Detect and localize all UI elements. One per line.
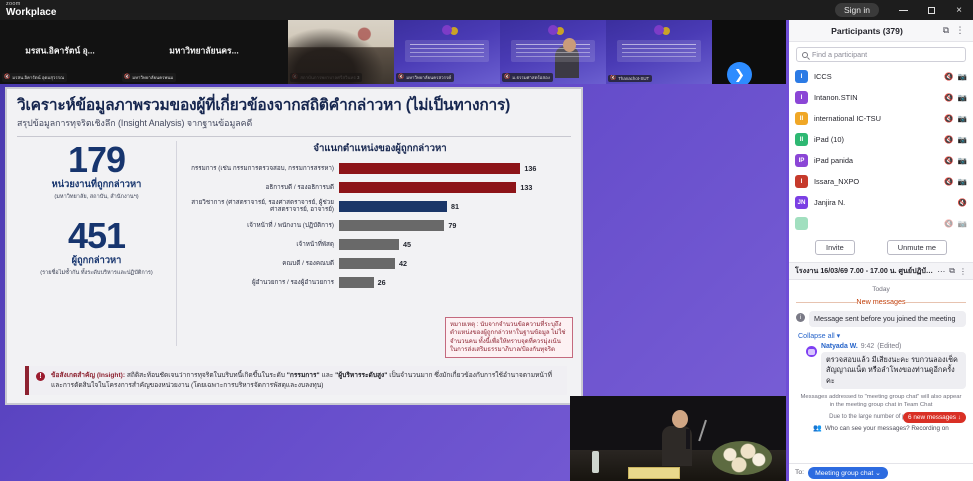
chart-bar-label: ผู้อำนวยการ / รองผู้อำนวยการ [189, 279, 339, 286]
mic-off-icon[interactable]: 🔇 [944, 115, 953, 123]
alert-icon: ! [36, 372, 45, 381]
mic-off-icon[interactable]: 🔇 [944, 157, 953, 165]
chevron-down-icon: ⌄ [875, 470, 881, 477]
shared-slide: วิเคราะห์ข้อมูลภาพรวมของผู้ที่เกี่ยวข้อง… [5, 87, 583, 405]
new-messages-pill[interactable]: 6 new messages ↓ [903, 412, 966, 423]
slide-text-block [617, 40, 702, 62]
insight-text-a: สถิติสะท้อนชัดเจนว่าการทุจริตในบริบทนี้เ… [125, 372, 287, 379]
chart-bar-track: 26 [339, 277, 571, 288]
chart-bar-label: กรรมการ (เช่น กรรมการตรวจสอบ, กรรมการสรร… [189, 165, 339, 172]
new-messages-pill-label: 6 new messages [908, 414, 956, 421]
participant-row[interactable]: IIiPad (10)🔇📷 [789, 129, 973, 150]
system-message-text: Message sent before you joined the meeti… [809, 311, 966, 327]
chart-bar [339, 220, 444, 231]
avatar: II [795, 112, 808, 125]
app-brand: zoom Workplace [0, 2, 56, 18]
chart-bar-value: 81 [451, 202, 459, 211]
search-input[interactable]: Find a participant [796, 47, 966, 62]
chart-bar-row: สายวิชาการ (ศาสตราจารย์, รองศาสตราจารย์,… [189, 198, 571, 214]
participant-name: international IC-TSU [814, 114, 938, 123]
participant-actions: Invite Unmute me [789, 234, 973, 263]
chat-message-body: ตรวจสอบแล้ว มีเสียงนะคะ รบกวนลองเช็คสัญญ… [821, 352, 966, 390]
participant-row[interactable]: IPiPad panida🔇📷 [789, 150, 973, 171]
avatar: II [795, 133, 808, 146]
chart-bar-value: 133 [520, 183, 532, 192]
mic-off-icon: 🔇 [4, 75, 10, 80]
participant-status-icons: 🔇📷 [944, 136, 967, 144]
emblem-icon [442, 25, 452, 35]
insight-highlight-2: "ผู้บริหารระดับสูง" [335, 372, 387, 379]
participant-name: ICCS [814, 72, 938, 81]
camera-off-icon[interactable]: 📷 [958, 115, 967, 123]
mic-off-icon[interactable]: 🔇 [944, 136, 953, 144]
more-horizontal-icon[interactable]: ⋯ [937, 267, 945, 276]
participant-name: iPad panida [814, 156, 938, 165]
bar-chart: จำแนกตำแหน่งของผู้ถูกกล่าวหา กรรมการ (เช… [185, 141, 571, 346]
participant-status-icons: 🔇📷 [944, 115, 967, 123]
collapse-all-label: Collapse all [798, 332, 835, 340]
participant-list[interactable]: IICCS🔇📷IIntanon.STIN🔇📷IIinternational IC… [789, 66, 973, 234]
right-side-panel: Participants (379) ⧉ ⋮ Find a participan… [788, 20, 973, 481]
thumbnail-badge-label: มรสน.อิคารัตน์ อุดมสุวรรณ [12, 74, 64, 81]
thumbnail-badge-label: สถาบันการพยาบาลศรีสวินทร 3 [300, 74, 359, 81]
chart-bar-label: คณบดี / รองคณบดี [189, 260, 339, 267]
participant-row[interactable]: JNJanjira N.🔇 [789, 192, 973, 213]
participant-search-wrap: Find a participant [789, 42, 973, 66]
minimize-icon[interactable] [889, 0, 917, 20]
thumbnail-tile[interactable]: มหาวิทยาลัยนคร... 🔇 มหาวิทยาลัยนครพนม [120, 20, 288, 84]
camera-icon[interactable]: 📷 [958, 94, 967, 102]
chevron-up-icon: ▾ [837, 332, 841, 340]
collapse-all-button[interactable]: Collapse all ▾ [798, 331, 966, 340]
thumbnail-tile[interactable]: มรสน.อิคารัตน์ อุ... 🔇 มรสน.อิคารัตน์ อุ… [0, 20, 120, 84]
brand-workplace-label: Workplace [6, 8, 56, 18]
participant-status-icons: 🔇📷 [944, 157, 967, 165]
participant-name: iPad (10) [814, 135, 938, 144]
insight-highlight-1: "กรรมการ" [287, 372, 320, 379]
chat-due-notice: Due to the large number of participants … [796, 414, 966, 420]
mic-off-icon: 🔇 [610, 76, 616, 81]
search-icon [802, 52, 808, 58]
flower-arrangement [712, 441, 772, 475]
kpi-value: 451 [68, 219, 125, 252]
participant-status-icons: 🔇 [958, 199, 967, 207]
chart-bar-row: ผู้อำนวยการ / รองผู้อำนวยการ26 [189, 274, 571, 290]
title-bar: zoom Workplace Sign in × [0, 0, 973, 20]
mic-off-icon: 🔇 [398, 75, 404, 80]
thumbnail-badge-label: Thanachot-SUT [618, 76, 649, 81]
mic-off-icon[interactable]: 🔇 [944, 94, 953, 102]
thumbnail-tile[interactable]: 🔇 สถาบันการพยาบาลศรีสวินทร 3 [288, 20, 394, 84]
slide-heading: วิเคราะห์ข้อมูลภาพรวมของผู้ที่เกี่ยวข้อง… [17, 97, 571, 114]
insight-lead: ข้อสังเกตสำคัญ (Insight): [51, 372, 125, 379]
chat-footnote: Messages addressed to "meeting group cha… [796, 394, 966, 410]
active-speaker-video[interactable] [570, 396, 788, 481]
system-message: i Message sent before you joined the mee… [796, 311, 966, 327]
chart-bar-label: อธิการบดี / รองอธิการบดี [189, 184, 339, 191]
slide-text-block [511, 40, 596, 62]
kpi-sublabel: (รายชื่อไม่ซ้ำกัน ทั้งระดับบริหารและปฏิบ… [40, 269, 153, 277]
chart-bar [339, 239, 399, 250]
thumbnail-display-name: มหาวิทยาลัยนคร... [120, 44, 288, 58]
who-can-see-row[interactable]: 👥 Who can see your messages? Recording o… [796, 424, 966, 432]
popout-icon[interactable]: ⧉ [949, 266, 955, 276]
chat-compose-footer: To: Meeting group chat ⌄ [789, 463, 973, 481]
avatar: I [795, 175, 808, 188]
thumbnail-name-badge: 🔇 ม.ธรรมศาสตร์อสอง [502, 73, 553, 82]
mic-off-icon: 🔇 [124, 75, 130, 80]
chart-bar-row: เจ้าหน้าที่ / พนักงาน (ปฏิบัติการ)79 [189, 217, 571, 233]
thumbnail-name-badge: 🔇 สถาบันการพยาบาลศรีสวินทร 3 [290, 73, 362, 82]
more-vertical-icon[interactable]: ⋮ [953, 24, 967, 38]
thumbnail-name-badge: 🔇 มรสน.อิคารัตน์ อุดมสุวรรณ [2, 73, 67, 82]
chart-bar-value: 42 [399, 259, 407, 268]
chart-bar-track: 136 [339, 163, 571, 174]
mic-off-icon: 🔇 [504, 75, 510, 80]
invite-button[interactable]: Invite [815, 240, 855, 255]
avatar: JN [795, 196, 808, 209]
chat-edited-flag: (Edited) [877, 343, 901, 350]
chat-day-separator: Today [796, 286, 966, 293]
info-icon: i [796, 313, 805, 322]
participant-status-icons: 🔇📷 [944, 220, 967, 228]
camera-off-icon[interactable]: 📷 [958, 220, 967, 228]
chart-bar-row: อธิการบดี / รองอธิการบดี133 [189, 179, 571, 195]
thumbnail-tile[interactable]: 🔇 ม.ธรรมศาสตร์อสอง [500, 20, 606, 84]
chart-bar [339, 277, 374, 288]
thumbnail-tile[interactable]: 🔇 มหาวิทยาลัยนครสวรรค์ [394, 20, 500, 84]
thumbnail-badge-label: มหาวิทยาลัยนครสวรรค์ [406, 74, 451, 81]
camera-off-icon[interactable]: 📷 [958, 157, 967, 165]
chart-bar-track: 45 [339, 239, 571, 250]
chat-time: 9:42 [861, 343, 874, 350]
camera-off-icon[interactable]: 📷 [958, 178, 967, 186]
mic-off-icon[interactable]: 🔇 [958, 199, 967, 207]
participants-title: Participants (379) [795, 26, 939, 36]
chart-bar-track: 81 [339, 201, 571, 212]
thumbnail-tile[interactable]: 🔇 Thanachot-SUT [606, 20, 712, 84]
chart-bar-label: เจ้าหน้าที่ / พนักงาน (ปฏิบัติการ) [189, 222, 339, 229]
slide-body: 179 หน่วยงานที่ถูกกล่าวหา (มหาวิทยาลัย, … [17, 141, 571, 346]
divider [17, 136, 571, 137]
participants-header: Participants (379) ⧉ ⋮ [789, 20, 973, 42]
new-messages-separator: New messages [796, 297, 966, 306]
popout-icon[interactable]: ⧉ [939, 24, 953, 38]
chart-bar-track: 79 [339, 220, 571, 231]
chart-bar-value: 45 [403, 240, 411, 249]
avatar [806, 346, 817, 357]
thumbnail-badge-label: ม.ธรรมศาสตร์อสอง [512, 74, 550, 81]
chart-bar-value: 136 [524, 164, 536, 173]
participant-thumbnail-strip[interactable]: มรสน.อิคารัตน์ อุ... 🔇 มรสน.อิคารัตน์ อุ… [0, 20, 788, 84]
thumbnail-name-badge: 🔇 มหาวิทยาลัยนครสวรรค์ [396, 73, 454, 82]
kpi-label: หน่วยงานที่ถูกกล่าวหา [52, 177, 142, 192]
participant-row[interactable]: IIntanon.STIN🔇📷 [789, 87, 973, 108]
participant-row[interactable]: 🔇📷 [789, 213, 973, 234]
speaker-tie [686, 429, 690, 449]
emblem-icon [548, 25, 558, 35]
participant-row[interactable]: IIinternational IC-TSU🔇📷 [789, 108, 973, 129]
name-plate [628, 467, 680, 479]
thumbnail-name-badge: 🔇 Thanachot-SUT [608, 75, 652, 82]
chart-bar-row: เจ้าหน้าที่พัสดุ45 [189, 236, 571, 252]
avatar: IP [795, 154, 808, 167]
chart-note: หมายเหตุ : นับจากจำนวนข้อความที่ระบุถึงต… [445, 317, 573, 358]
chart-bar-value: 26 [378, 278, 386, 287]
camera-off-icon[interactable]: 📷 [958, 136, 967, 144]
avatar [795, 217, 808, 230]
kpi-value: 179 [68, 143, 125, 176]
chart-bar-row: คณบดี / รองคณบดี42 [189, 255, 571, 271]
search-placeholder: Find a participant [812, 50, 867, 59]
participant-name: Janjira N. [814, 198, 952, 207]
participant-status-icons: 🔇📷 [944, 178, 967, 186]
mic-off-icon[interactable]: 🔇 [944, 73, 953, 81]
chat-message: Natyada W.9:42(Edited) ตรวจสอบแล้ว มีเสี… [806, 343, 966, 390]
unmute-me-button[interactable]: Unmute me [887, 240, 947, 255]
chart-bar-label: สายวิชาการ (ศาสตราจารย์, รองศาสตราจารย์,… [189, 199, 339, 213]
slide-text-block [405, 40, 490, 62]
participant-name: Issara_NXPO [814, 177, 938, 186]
who-can-see-label: Who can see your messages? Recording on [825, 425, 949, 432]
chat-recipient-selector[interactable]: Meeting group chat ⌄ [808, 467, 888, 479]
chart-bars: กรรมการ (เช่น กรรมการตรวจสอบ, กรรมการสรร… [189, 160, 571, 290]
insight-callout: ! ข้อสังเกตสำคัญ (Insight): สถิติสะท้อนช… [25, 366, 567, 395]
chat-header: โรงงาน 16/03/69 7.00 - 17.00 น. ศูนย์ปฏิ… [789, 263, 973, 280]
chart-bar [339, 163, 520, 174]
people-icon: 👥 [813, 424, 822, 432]
shared-screen-stage: วิเคราะห์ข้อมูลภาพรวมของผู้ที่เกี่ยวข้อง… [0, 84, 788, 481]
water-bottle [592, 451, 599, 473]
thumbnail-badge-label: มหาวิทยาลัยนครพนม [132, 74, 173, 81]
mic-off-icon[interactable]: 🔇 [944, 220, 953, 228]
chat-message-list[interactable]: Today New messages i Message sent before… [789, 280, 973, 456]
chart-bar-value: 79 [448, 221, 456, 230]
thumbnail-name-badge: 🔇 มหาวิทยาลัยนครพนม [122, 73, 176, 82]
chart-bar [339, 182, 516, 193]
emblem-icon [654, 25, 664, 35]
participant-row[interactable]: IICCS🔇📷 [789, 66, 973, 87]
chat-recipient-label: Meeting group chat [815, 470, 873, 477]
insight-text-b: และ [320, 372, 336, 379]
more-vertical-icon[interactable]: ⋮ [959, 267, 967, 276]
mic-off-icon: 🔇 [292, 75, 298, 80]
chat-message-meta: Natyada W.9:42(Edited) [821, 343, 966, 350]
chart-bar [339, 258, 395, 269]
chart-bar-track: 133 [339, 182, 571, 193]
slide-subheading: สรุปข้อมูลการทุจริตเชิงลึก (Insight Anal… [17, 116, 571, 130]
participant-row[interactable]: IIssara_NXPO🔇📷 [789, 171, 973, 192]
participant-status-icons: 🔇📷 [944, 73, 967, 81]
chart-bar-row: กรรมการ (เช่น กรรมการตรวจสอบ, กรรมการสรร… [189, 160, 571, 176]
chart-title: จำแนกตำแหน่งของผู้ถูกกล่าวหา [189, 141, 571, 156]
chat-title: โรงงาน 16/03/69 7.00 - 17.00 น. ศูนย์ปฏิ… [795, 266, 933, 277]
participant-name: Intanon.STIN [814, 93, 938, 102]
camera-off-icon[interactable]: 📷 [958, 73, 967, 81]
avatar: I [795, 70, 808, 83]
avatar: I [795, 91, 808, 104]
thumbnail-display-name: มรสน.อิคารัตน์ อุ... [0, 44, 120, 58]
kpi-sublabel: (มหาวิทยาลัย, สถาบัน, สำนักงานฯ) [54, 193, 138, 201]
window-controls: Sign in × [835, 0, 973, 20]
mic-off-icon[interactable]: 🔇 [944, 178, 953, 186]
maximize-icon[interactable] [917, 0, 945, 20]
chat-to-label: To: [795, 469, 804, 476]
kpi-label: ผู้ถูกกล่าวหา [72, 253, 122, 268]
zoom-meeting-window: zoom Workplace Sign in × มรสน.อิคารัตน์ … [0, 0, 973, 481]
participant-status-icons: 🔇📷 [944, 94, 967, 102]
arrow-down-icon: ↓ [958, 414, 961, 421]
kpi-column: 179 หน่วยงานที่ถูกกล่าวหา (มหาวิทยาลัย, … [17, 141, 177, 346]
chart-bar-label: เจ้าหน้าที่พัสดุ [189, 241, 339, 248]
chart-bar-track: 42 [339, 258, 571, 269]
close-icon[interactable]: × [945, 0, 973, 20]
chart-bar [339, 201, 447, 212]
sign-in-button[interactable]: Sign in [835, 3, 879, 17]
chat-author: Natyada W. [821, 343, 858, 350]
